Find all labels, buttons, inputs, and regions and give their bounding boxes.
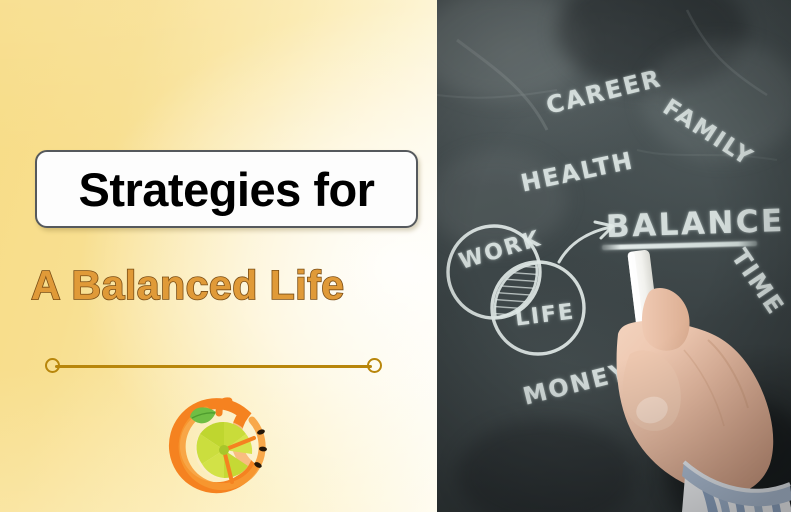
- clock-center-dot: [219, 445, 229, 455]
- divider-ring-right-icon: [367, 358, 382, 373]
- subheadline: A Balanced Life: [31, 262, 437, 309]
- page-title: Strategies for: [79, 166, 375, 213]
- left-text-panel: Strategies for A Balanced Life: [0, 0, 437, 512]
- index-finger: [642, 288, 690, 351]
- chalk-word-balance: BALANCE: [605, 203, 785, 245]
- poster-canvas: Strategies for A Balanced Life: [0, 0, 791, 512]
- chalkboard-photo: CAREER FAMILY HEALTH BALANCE: [437, 0, 791, 512]
- dot-line-divider: [45, 356, 382, 376]
- headline-box: Strategies for: [35, 150, 418, 228]
- orange-clock-logo: [166, 396, 272, 500]
- divider-bar: [55, 365, 372, 368]
- hand-holding-chalk: [612, 250, 791, 512]
